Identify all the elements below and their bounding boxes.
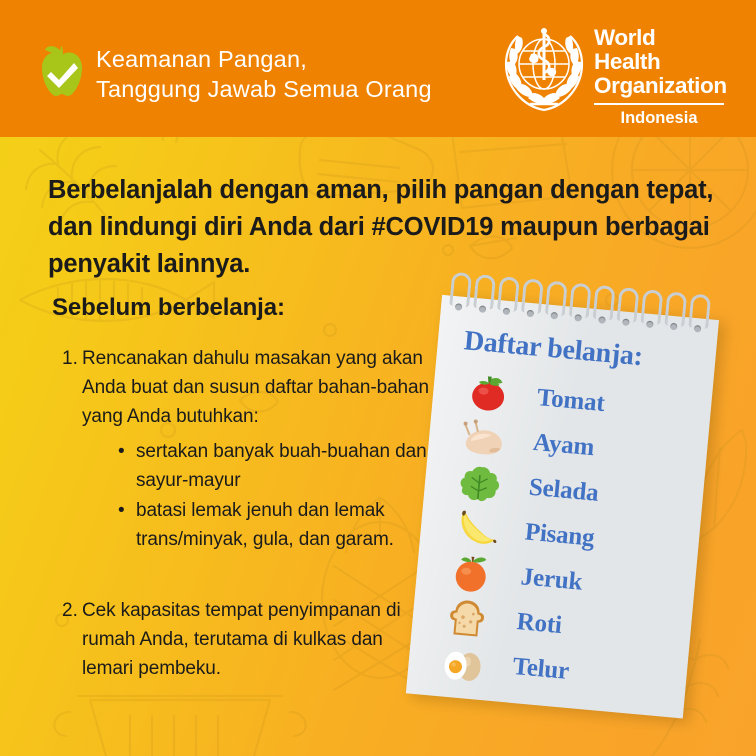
bullet-item: • batasi lemak jenuh dan lemak trans/min… [110, 496, 446, 554]
apple-check-icon [38, 41, 86, 97]
bullet-marker: • [110, 496, 136, 554]
list-item-label: Roti [516, 608, 563, 640]
step-1-bullets: • sertakan banyak buah-buahan dan sayur-… [110, 437, 446, 554]
chicken-icon [459, 416, 509, 462]
spiral-ring [664, 291, 687, 327]
spiral-ring [569, 283, 592, 319]
step-item-1: 1. Rencanakan dahulu masakan yang akan A… [48, 344, 448, 431]
banana-icon [451, 506, 501, 552]
who-emblem-icon [498, 24, 590, 116]
who-divider [594, 103, 724, 105]
spiral-ring [688, 294, 711, 330]
steps-list: 1. Rencanakan dahulu masakan yang akan A… [48, 344, 448, 554]
tomato-icon [463, 372, 513, 418]
list-item-label: Pisang [524, 518, 596, 552]
list-item-label: Telur [511, 653, 570, 686]
step-text: Cek kapasitas tempat penyimpanan di ruma… [82, 596, 408, 683]
step-item-2: 2. Cek kapasitas tempat penyimpanan di r… [48, 596, 408, 689]
step-number: 2. [48, 596, 82, 683]
who-logo: World Health Organization Indonesia [498, 22, 726, 118]
spiral-ring [497, 276, 520, 312]
spiral-ring [593, 285, 616, 321]
headline-text: Berbelanjalah dengan aman, pilih pangan … [48, 172, 726, 283]
spiral-ring [617, 287, 640, 323]
lettuce-icon [455, 461, 505, 507]
infographic-poster: Keamanan Pangan, Tanggung Jawab Semua Or… [0, 0, 756, 756]
shopping-list-notepad: Daftar belanja: Tomat [406, 269, 734, 724]
list-item-label: Tomat [536, 384, 606, 418]
notepad-items: Tomat Ayam [429, 371, 707, 707]
bullet-item: • sertakan banyak buah-buahan dan sayur-… [110, 437, 446, 495]
spiral-ring [521, 278, 544, 314]
header-bar: Keamanan Pangan, Tanggung Jawab Semua Or… [0, 0, 756, 137]
bullet-text: batasi lemak jenuh dan lemak trans/minya… [136, 496, 446, 554]
spiral-ring [545, 280, 568, 316]
subheading-text: Sebelum berbelanja: [52, 294, 285, 322]
spiral-ring [640, 289, 663, 325]
bullet-marker: • [110, 437, 136, 495]
bread-icon [443, 596, 493, 642]
egg-icon [439, 640, 489, 686]
who-country-label: Indonesia [594, 109, 724, 128]
spiral-ring [449, 272, 472, 308]
list-item-label: Selada [528, 474, 600, 508]
step-text: Rencanakan dahulu masakan yang akan Anda… [82, 344, 448, 431]
list-item-label: Ayam [532, 429, 596, 462]
spiral-ring [473, 274, 496, 310]
list-item-label: Jeruk [520, 563, 584, 596]
who-wordmark: World Health Organization Indonesia [594, 26, 726, 128]
step-number: 1. [48, 344, 82, 431]
who-line-2: Organization [594, 74, 726, 98]
who-line-1: World Health [594, 26, 726, 74]
orange-icon [447, 551, 497, 597]
header-title: Keamanan Pangan, Tanggung Jawab Semua Or… [96, 44, 432, 104]
bullet-text: sertakan banyak buah-buahan dan sayur-ma… [136, 437, 446, 495]
